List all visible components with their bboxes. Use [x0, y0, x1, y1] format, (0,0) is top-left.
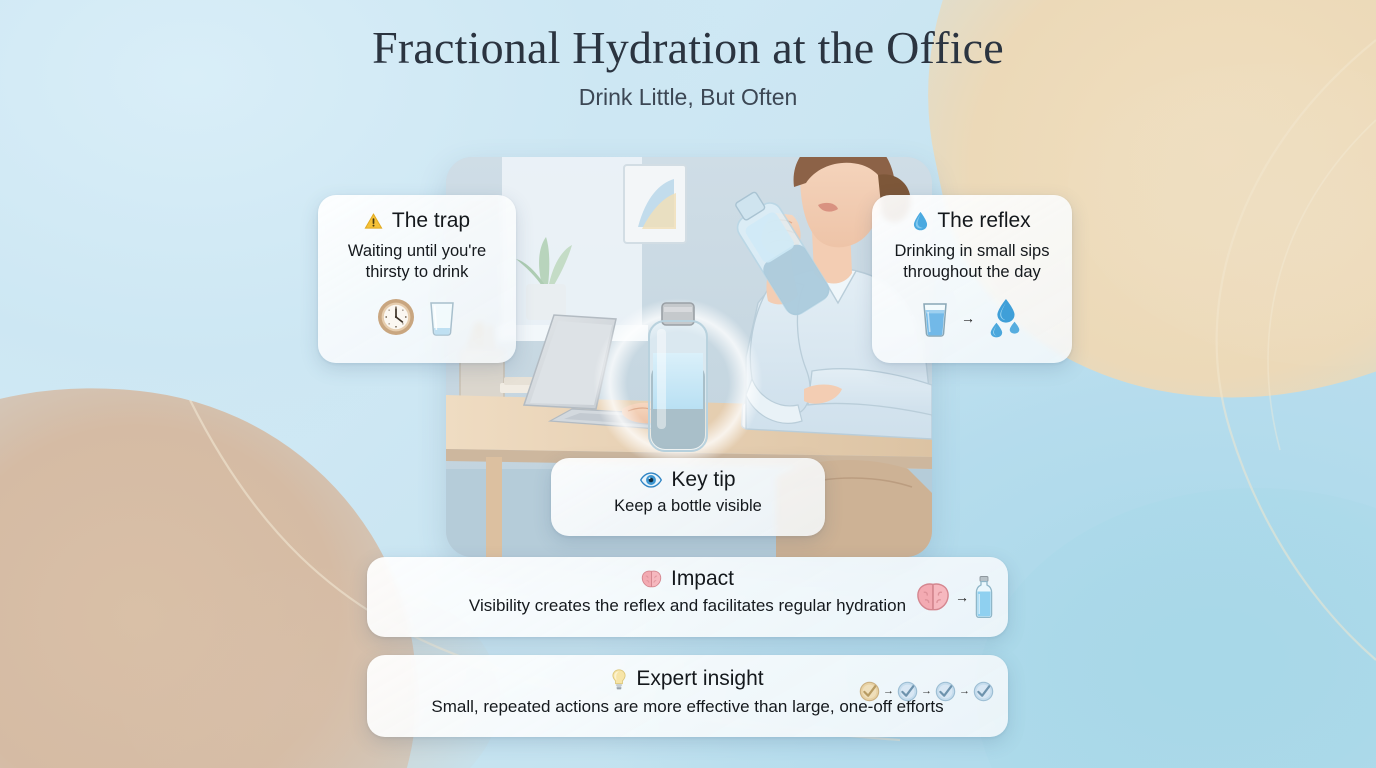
card-the-trap[interactable]: The trap Waiting until you're thirsty to…: [318, 195, 516, 363]
arrow-right-icon: →: [959, 686, 970, 697]
card-impact-header: Impact: [383, 567, 992, 591]
warning-icon: [364, 212, 383, 231]
card-impact-title: Impact: [671, 567, 734, 591]
arrow-right-icon: →: [921, 686, 932, 697]
card-the-reflex-icons: →: [884, 297, 1060, 339]
card-expert-insight-title: Expert insight: [636, 667, 763, 691]
arrow-right-icon: →: [961, 311, 975, 325]
card-the-reflex-header: The reflex: [884, 209, 1060, 233]
check-circle-gold-icon: [859, 681, 880, 702]
card-the-trap-icons: [330, 297, 504, 337]
check-circle-blue-icon: [897, 681, 918, 702]
foreground-bottle: [649, 303, 707, 451]
card-key-tip-header: Key tip: [565, 468, 811, 492]
check-circle-blue-icon: [973, 681, 994, 702]
card-the-reflex-title: The reflex: [937, 209, 1030, 233]
card-the-trap-header: The trap: [330, 209, 504, 233]
brain-icon: [641, 570, 662, 588]
droplet-icon: [913, 211, 928, 231]
water-bottle-icon: [974, 575, 994, 619]
card-key-tip-title: Key tip: [671, 468, 735, 492]
droplets-icon: [985, 297, 1025, 339]
card-the-trap-body: Waiting until you're thirsty to drink: [330, 241, 504, 283]
arrow-right-icon: →: [955, 590, 969, 604]
header: Fractional Hydration at the Office Drink…: [0, 0, 1376, 111]
card-key-tip-body: Keep a bottle visible: [565, 496, 811, 517]
page-title: Fractional Hydration at the Office: [0, 24, 1376, 72]
card-impact-icons: →: [916, 575, 994, 619]
lightbulb-icon: [611, 669, 627, 690]
page-subtitle: Drink Little, But Often: [0, 84, 1376, 111]
card-expert-insight-icons: → → →: [859, 681, 994, 702]
empty-glass-icon: [426, 297, 458, 337]
card-key-tip[interactable]: Key tip Keep a bottle visible: [551, 458, 825, 536]
check-circle-blue-icon: [935, 681, 956, 702]
full-glass-icon: [919, 298, 951, 338]
clock-icon: [376, 297, 416, 337]
card-the-trap-title: The trap: [392, 209, 470, 233]
card-impact[interactable]: Impact Visibility creates the reflex and…: [367, 557, 1008, 637]
infographic-stage: Fractional Hydration at the Office Drink…: [0, 0, 1376, 768]
arrow-right-icon: →: [883, 686, 894, 697]
eye-icon: [640, 472, 662, 488]
card-expert-insight[interactable]: Expert insight Small, repeated actions a…: [367, 655, 1008, 737]
brain-icon: [916, 582, 950, 612]
card-the-reflex[interactable]: The reflex Drinking in small sips throug…: [872, 195, 1072, 363]
card-impact-body: Visibility creates the reflex and facili…: [383, 595, 992, 616]
card-the-reflex-body: Drinking in small sips throughout the da…: [884, 241, 1060, 283]
